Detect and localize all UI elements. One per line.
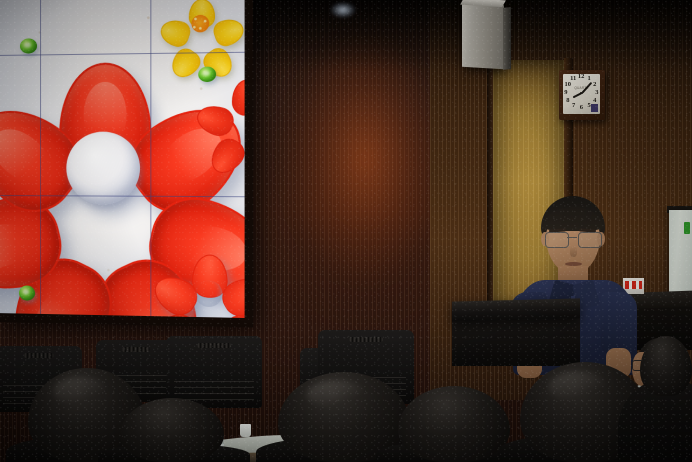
presenter-glasses [545,232,602,247]
speaker-side-face [503,7,511,70]
large-red-flower [4,63,205,274]
chair-back-slot [24,353,53,358]
clock-numeral: 8 [566,98,569,105]
flower-center [195,280,222,307]
paper-cup [240,424,251,437]
speaker-top-face [460,0,506,7]
clock-numeral: 6 [580,105,583,112]
clock-numeral: 3 [595,90,598,97]
ceiling-light-icon [330,2,356,18]
edge-red-flower [215,80,245,142]
head-far-right [640,336,692,396]
clock-numeral: 9 [564,90,567,97]
lectern-top [452,298,580,321]
clock-numeral: 12 [578,74,585,81]
lectern-body [452,318,580,366]
clock-numeral: 7 [572,103,575,110]
clock-numeral: 10 [564,82,571,89]
chair-back-slot [122,347,149,352]
flower-center [191,15,209,33]
clock-date-window [591,104,598,112]
flower-center [66,132,140,205]
green-dot-icon [19,285,35,300]
chair-back-slot [350,337,383,342]
glasses-bridge [567,237,577,238]
chair-back-slot [198,343,231,348]
ceiling-speaker [462,3,504,70]
lecture-hall-photo: QUARTZ 121234567891011 [0,0,692,462]
audience-chair [166,336,262,408]
wall-clock: QUARTZ 121234567891011 [559,70,605,120]
green-dot-icon [198,67,216,83]
clock-numeral: 2 [593,82,596,89]
video-wall-content [0,0,245,318]
whiteboard-marker[interactable] [684,222,690,234]
flower-petal [232,79,245,115]
led-video-wall[interactable] [0,0,253,327]
clock-face: QUARTZ 121234567891011 [563,74,600,114]
small-red-flower [171,255,245,318]
clock-numeral: 11 [570,76,576,83]
bezel-line-vertical [40,0,41,314]
presenter-nose [570,246,577,257]
glasses-lens-left [545,232,569,248]
yellow-flower [175,0,225,49]
bezel-line-vertical [150,0,151,316]
glasses-lens-right [578,232,602,248]
